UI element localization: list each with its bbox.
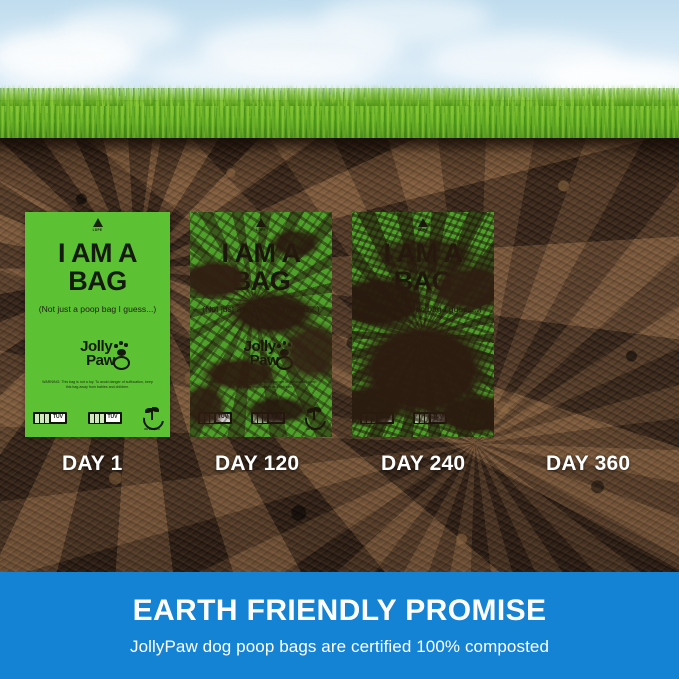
grass-blade [619,88,621,106]
grass-blade [20,92,22,106]
grass-blade [484,96,487,106]
bag-front-face: LDPE I AM A BAG (Not just a poop bag I g… [25,212,170,437]
grass-blade [271,95,274,106]
grass-blade [159,84,161,106]
bag-warning-text: WARNING: This bag is not a toy. To avoid… [39,380,156,390]
grass-blade [94,86,97,106]
seedling-compostable-logo-icon: OK compost [142,406,162,430]
grass-blade [162,94,164,106]
bag-headline-line-2: BAG [25,268,170,296]
brand-logo: Jolly Paw [25,340,170,370]
grass-blade [105,95,108,106]
grass-blade [676,93,678,106]
seedling-label: OK compost [142,428,162,431]
bag-stage-day-1: LDPE I AM A BAG (Not just a poop bag I g… [25,212,170,437]
tuv-label-2: TÜV [106,414,120,421]
grass-blade [212,91,216,106]
grass-blade [2,90,6,107]
tuv-label-1: TÜV [51,414,65,421]
grass-blade [97,79,101,106]
brand-logo-wrap: Jolly Paw [80,340,115,368]
grass-blade [347,84,353,106]
grass-blade [302,96,305,106]
grass-blade [171,93,175,106]
bag-stage-day-240: LDPE I AM A BAG (Not just a poop bag I g… [352,212,494,437]
cloud-shape [60,8,180,50]
timeline-label-day-120: DAY 120 [215,452,299,476]
grass-blade [175,85,178,106]
grass-blade [209,88,212,106]
grass-blade [319,93,323,106]
banner-title: EARTH FRIENDLY PROMISE [133,594,547,628]
grass-blade [506,87,508,106]
grass-blade [283,96,286,106]
bag-subtitle: (Not just a poop bag I guess...) [25,304,170,314]
grass-blade [40,92,42,106]
grass-blade [315,86,317,107]
timeline-label-day-360: DAY 360 [546,452,630,476]
grass-blades-overlay [0,84,679,106]
triangle-glyph [93,218,103,227]
bag-shading [352,212,494,437]
grass-blade [34,95,37,106]
brand-name-line-2: Paw [86,354,115,368]
product-infographic: LDPE I AM A BAG (Not just a poop bag I g… [0,0,679,679]
bag-headline: I AM A BAG [25,240,170,295]
tuv-austria-ok-compost-industrial-icon: TÜV [88,412,122,424]
paw-ring-icon [113,356,130,370]
grass-blade [364,97,366,106]
grass-blade [663,92,667,106]
soil-surface-shadow [0,138,679,154]
timeline-labels: DAY 1 DAY 120 DAY 240 DAY 360 [0,452,679,484]
grass-blade [653,81,655,106]
grass-blade [238,83,242,106]
grass-blade [227,92,229,106]
bag-shading [190,212,332,437]
grass-blade [566,91,569,106]
tuv-austria-ok-compost-home-icon: TÜV [33,412,67,424]
grass-blade [587,94,589,106]
bag-stage-day-120: LDPE I AM A BAG (Not just a poop bag I g… [190,212,332,437]
grass-blade [509,95,511,106]
grass-blade [168,80,170,106]
bag-material-label: LDPE [93,228,103,232]
grass-blade [17,88,19,106]
certification-logos: TÜV TÜV OK compost [33,406,162,430]
recycle-triangle-icon: LDPE [93,218,103,232]
grass-blade [186,90,190,106]
grass-blade [335,86,338,106]
paw-print-icon [114,341,132,357]
grass-blade [532,87,535,106]
grass-blade [216,87,219,106]
grass-blade [308,86,312,106]
grass-blade [109,96,112,106]
earth-friendly-promise-banner: EARTH FRIENDLY PROMISE JollyPaw dog poop… [0,572,679,679]
timeline-label-day-240: DAY 240 [381,452,465,476]
grass-blade [554,93,558,106]
bag-headline-line-1: I AM A [58,238,137,268]
banner-subtitle: JollyPaw dog poop bags are certified 100… [130,637,549,657]
timeline-label-day-1: DAY 1 [62,452,123,476]
grass-blade [74,80,77,106]
grass-blade [207,83,209,106]
